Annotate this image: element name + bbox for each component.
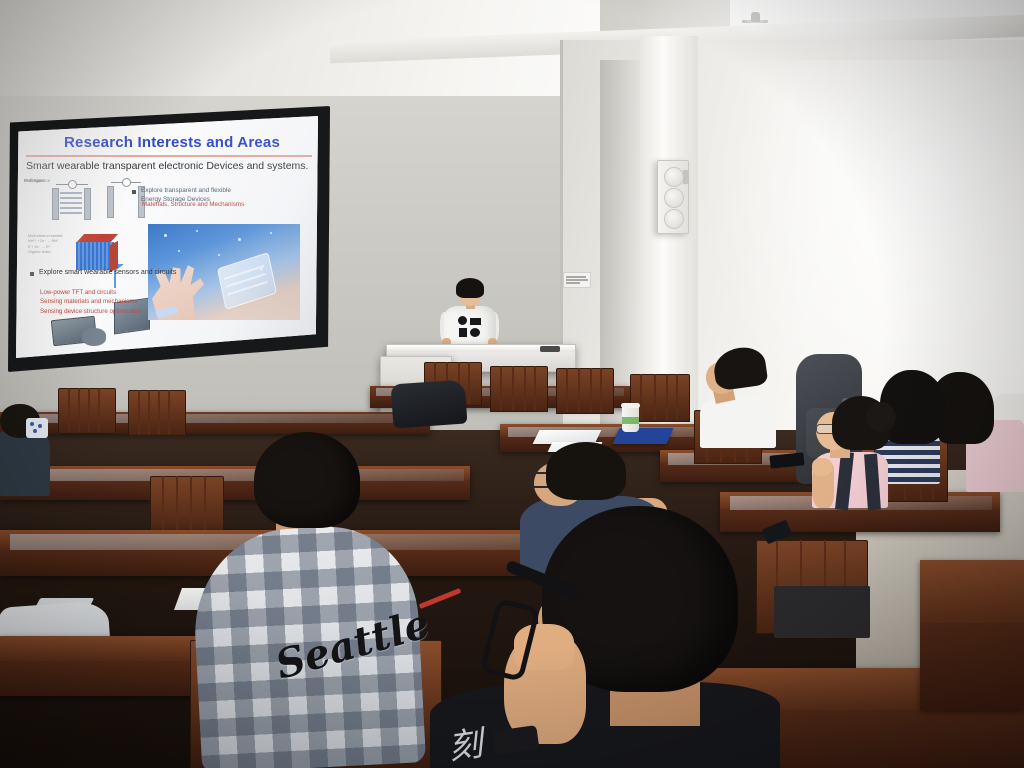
student-hair	[711, 345, 768, 392]
slide-bullet-sensors-subtext: Low-power TFT and circuits Sensing mater…	[40, 288, 190, 316]
coffee-cup-lid	[621, 403, 640, 408]
slide-subtitle: Smart wearable transparent electronic De…	[26, 160, 316, 172]
student-hand	[812, 458, 832, 476]
lecture-room-photo: Research Interests and Areas Smart weara…	[0, 0, 1024, 768]
bullet-marker-icon	[132, 190, 136, 194]
student-hair	[254, 432, 360, 528]
chair	[556, 368, 612, 412]
electrode-cell-a	[50, 182, 92, 220]
student-seattle-shirt: Seattle	[196, 432, 426, 768]
bag-front-desk	[391, 379, 468, 428]
speaker-bracket	[683, 170, 689, 184]
track-light-head	[751, 12, 760, 22]
track-light-icon	[742, 12, 768, 28]
reaction-equations: Multi-electron transferMn²⁺ + 2e⁻ → Mn⁰E…	[28, 234, 72, 258]
slide-title: Research Interests and Areas	[64, 134, 304, 151]
chair	[128, 390, 184, 434]
transparent-flexible-device	[217, 252, 277, 310]
student-black-tee: 刻	[430, 506, 790, 768]
slide-bullet-sensors: Explore smart wearable sensors and circu…	[30, 268, 180, 278]
bullet-text: Explore smart wearable sensors and circu…	[39, 268, 176, 278]
slide-title-rule	[26, 155, 312, 157]
chair	[490, 366, 546, 410]
patterned-cup	[26, 418, 48, 438]
student-glasses-pink	[812, 396, 908, 532]
bullet-marker-icon	[30, 272, 34, 276]
coffee-cup-logo-band	[622, 417, 639, 424]
student-hair-bun	[866, 402, 896, 432]
desk-side-right	[920, 560, 1024, 710]
lectern-item	[540, 346, 560, 352]
student-body	[0, 430, 50, 496]
chair	[58, 388, 114, 432]
projection-screen[interactable]: Research Interests and Areas Smart weara…	[16, 116, 318, 358]
student-left-edge	[0, 404, 56, 496]
wall-notice	[563, 272, 591, 288]
presenter-shirt-print	[458, 316, 482, 338]
prototype-device-b	[82, 328, 106, 346]
student-hair	[546, 442, 626, 500]
student-shirt	[700, 396, 776, 448]
coffee-cup	[622, 406, 639, 432]
presentation-slide: Research Interests and Areas Smart weara…	[16, 116, 318, 358]
student-white-tee	[700, 348, 782, 448]
presenter-hair	[456, 278, 484, 298]
slide-bullet-energy-subtext: Materials, Structure and Mechanisms	[142, 200, 252, 209]
diagram-label-prototype: Prototype	[24, 178, 44, 183]
